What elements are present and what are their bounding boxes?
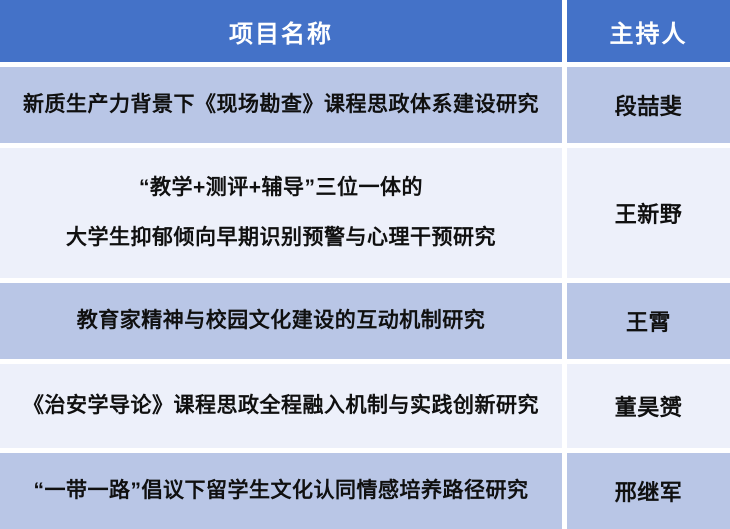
table-row: 《治安学导论》课程思政全程融入机制与实践创新研究 董昊赟	[0, 364, 730, 448]
column-header-host-label: 主持人	[610, 14, 688, 49]
table-row: 新质生产力背景下《现场勘查》课程思政体系建设研究 段喆斐	[0, 67, 730, 143]
table-row: 教育家精神与校园文化建设的互动机制研究 王霄	[0, 283, 730, 359]
cell-project-name: “一带一路”倡议下留学生文化认同情感培养路径研究	[0, 453, 562, 529]
cell-project-name: “教学+测评+辅导”三位一体的 大学生抑郁倾向早期识别预警与心理干预研究	[0, 148, 562, 278]
host-name-text: 邢继军	[615, 475, 683, 507]
project-name-line-2: 大学生抑郁倾向早期识别预警与心理干预研究	[66, 226, 496, 250]
cell-host: 董昊赟	[567, 364, 730, 448]
cell-host: 邢继军	[567, 453, 730, 529]
cell-host: 王霄	[567, 283, 730, 359]
host-name-text: 王霄	[626, 305, 671, 337]
cell-host: 段喆斐	[567, 67, 730, 143]
cell-project-name: 教育家精神与校园文化建设的互动机制研究	[0, 283, 562, 359]
project-name-text: “一带一路”倡议下留学生文化认同情感培养路径研究	[34, 478, 529, 503]
table-row: “一带一路”倡议下留学生文化认同情感培养路径研究 邢继军	[0, 453, 730, 529]
host-name-text: 段喆斐	[615, 89, 683, 121]
project-name-text: “教学+测评+辅导”三位一体的 大学生抑郁倾向早期识别预警与心理干预研究	[8, 176, 554, 250]
host-name-text: 王新野	[615, 197, 683, 229]
cell-project-name: 《治安学导论》课程思政全程融入机制与实践创新研究	[0, 364, 562, 448]
table-header-row: 项目名称 主持人	[0, 0, 730, 62]
host-name-text: 董昊赟	[615, 390, 683, 422]
table-row: “教学+测评+辅导”三位一体的 大学生抑郁倾向早期识别预警与心理干预研究 王新野	[0, 148, 730, 278]
project-name-text: 新质生产力背景下《现场勘查》课程思政体系建设研究	[23, 92, 539, 117]
cell-project-name: 新质生产力背景下《现场勘查》课程思政体系建设研究	[0, 67, 562, 143]
project-name-line-1: “教学+测评+辅导”三位一体的	[139, 176, 423, 200]
project-name-text: 《治安学导论》课程思政全程融入机制与实践创新研究	[23, 393, 539, 418]
column-header-host: 主持人	[567, 0, 730, 62]
project-name-text: 教育家精神与校园文化建设的互动机制研究	[77, 308, 486, 333]
column-header-project-name-label: 项目名称	[229, 14, 333, 49]
column-header-project-name: 项目名称	[0, 0, 562, 62]
project-table: 项目名称 主持人 新质生产力背景下《现场勘查》课程思政体系建设研究 段喆斐 “教…	[0, 0, 730, 517]
cell-host: 王新野	[567, 148, 730, 278]
